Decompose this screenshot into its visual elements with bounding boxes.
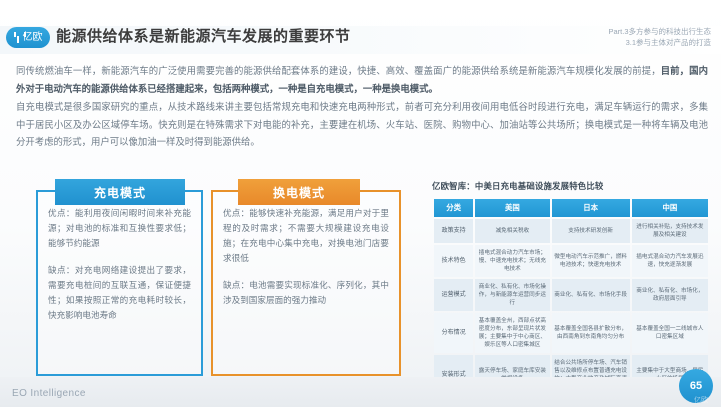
- table-header-category: 分类: [434, 199, 473, 217]
- comparison-table-wrap: 亿欧智库：中美日充电基础设施发展特色比较 分类 美国 日本 中国 政策支持 减免…: [432, 180, 710, 397]
- cell-category: 运营模式: [434, 279, 473, 311]
- page-title: 能源供给体系是新能源汽车发展的重要环节: [56, 25, 351, 49]
- cell-us: 插电式混合动力汽车市场；慢、中速充电技术；无线充电技术: [475, 245, 549, 277]
- section-label-line2: 3.1参与主体对产品的打造: [608, 37, 711, 48]
- cell-cn: 进行相关补贴，支持技术发展及相关建设: [632, 219, 708, 243]
- cell-cn: 插电式混合动力汽车发展迅速，快充逐渐发展: [632, 245, 708, 277]
- cell-us: 基本覆盖全州，西部点状高密度分布，东部呈现片状发展；主要集中于中心商区、娱乐区等…: [475, 313, 549, 353]
- table-row: 政策支持 减免相关税收 支持技术研发创新 进行相关补贴，支持技术发展及相关建设: [434, 219, 708, 243]
- cell-category: 分布情况: [434, 313, 473, 353]
- table-row: 运营模式 商业化、私有化、市场化操作，与新能源车运营同步运行 商业化、私有化、市…: [434, 279, 708, 311]
- cell-cn: 基本覆盖全国一二线城市人口密集区域: [632, 313, 708, 353]
- panel-charging-body: 优点：能利用夜间闲暇时间来补充能源；对电池的标准和互换性要求低；能够节约能源 缺…: [38, 192, 201, 323]
- table-row: 分布情况 基本覆盖全州，西部点状高密度分布，东部呈现片状发展；主要集中于中心商区…: [434, 313, 708, 353]
- panel-swap-mode: 优点：能够快速补充能源，满足用户对于里程的及时需求；不需要大规模建设充电设施；在…: [211, 190, 401, 376]
- logo-text: 亿欧: [23, 33, 43, 43]
- cell-jp: 支持技术研发创新: [552, 219, 630, 243]
- brand-logo: 亿欧: [6, 27, 50, 48]
- panel-swap-body: 优点：能够快速补充能源，满足用户对于里程的及时需求；不需要大规模建设充电设施；在…: [213, 192, 399, 308]
- logo-mark: 亿欧: [14, 32, 43, 43]
- table-row: 技术特色 插电式混合动力汽车市场；慢、中速充电技术；无线充电技术 微型电动汽车示…: [434, 245, 708, 277]
- paragraph-1-normal: 同传统燃油车一样，新能源汽车的广泛使用需要完善的能源供给配套体系的建设，快捷、高…: [16, 65, 661, 76]
- cell-us: 减免相关税收: [475, 219, 549, 243]
- panel-charging-title: 充电模式: [55, 179, 185, 205]
- y-glyph-icon: [14, 32, 22, 43]
- body-copy: 同传统燃油车一样，新能源汽车的广泛使用需要完善的能源供给配套体系的建设，快捷、高…: [16, 62, 708, 152]
- cell-category: 技术特色: [434, 245, 473, 277]
- paragraph-2: 自充电模式是很多国家研究的重点，从技术路线来讲主要包括常规充电和快速充电两种形式…: [16, 98, 708, 151]
- footer-brand: EO Intelligence: [12, 388, 86, 399]
- panel-swap-title: 换电模式: [238, 179, 360, 205]
- cell-category: 政策支持: [434, 219, 473, 243]
- cell-jp: 微型电动汽车示范推广，燃料电池技术；快速充电技术: [552, 245, 630, 277]
- slide-footer: [0, 377, 721, 407]
- paragraph-1: 同传统燃油车一样，新能源汽车的广泛使用需要完善的能源供给配套体系的建设，快捷、高…: [16, 62, 708, 97]
- footer-watermark: 亿欧: [694, 395, 708, 405]
- cell-jp: 商业化、私有化、市场化手段: [552, 279, 630, 311]
- section-label-line1: Part.3多方参与的科技出行生态: [608, 26, 711, 37]
- section-label: Part.3多方参与的科技出行生态 3.1参与主体对产品的打造: [608, 26, 711, 48]
- table-header-cn: 中国: [632, 199, 708, 217]
- cell-cn: 商业化、私有化、市场化，政府层面引导: [632, 279, 708, 311]
- panel-swap-cons: 缺点：电池需要实现标准化、序列化，其中涉及到国家层面的强力推动: [223, 278, 389, 308]
- panel-charging-mode: 优点：能利用夜间闲暇时间来补充能源；对电池的标准和互换性要求低；能够节约能源 缺…: [36, 190, 203, 376]
- panel-charging-pros: 优点：能利用夜间闲暇时间来补充能源；对电池的标准和互换性要求低；能够节约能源: [48, 206, 191, 251]
- table-header-us: 美国: [475, 199, 549, 217]
- comparison-table: 分类 美国 日本 中国 政策支持 减免相关税收 支持技术研发创新 进行相关补贴，…: [432, 197, 710, 397]
- panel-charging-cons: 缺点：对充电网络建设提出了要求，需要充电桩间的互联互通，保证便捷性；如果按照正常…: [48, 263, 191, 323]
- cell-us: 商业化、私有化、市场化操作，与新能源车运营同步运行: [475, 279, 549, 311]
- table-header-row: 分类 美国 日本 中国: [434, 199, 708, 217]
- panel-swap-pros: 优点：能够快速补充能源，满足用户对于里程的及时需求；不需要大规模建设充电设施；在…: [223, 206, 389, 266]
- cell-jp: 基本覆盖全国各县扩散分布，由西南角到东南角均匀分布: [552, 313, 630, 353]
- table-header-jp: 日本: [552, 199, 630, 217]
- slide-header: 亿欧 能源供给体系是新能源汽车发展的重要环节 Part.3多方参与的科技出行生态…: [0, 0, 721, 56]
- slide-canvas: 亿欧 能源供给体系是新能源汽车发展的重要环节 Part.3多方参与的科技出行生态…: [0, 0, 721, 407]
- table-title: 亿欧智库：中美日充电基础设施发展特色比较: [432, 180, 710, 192]
